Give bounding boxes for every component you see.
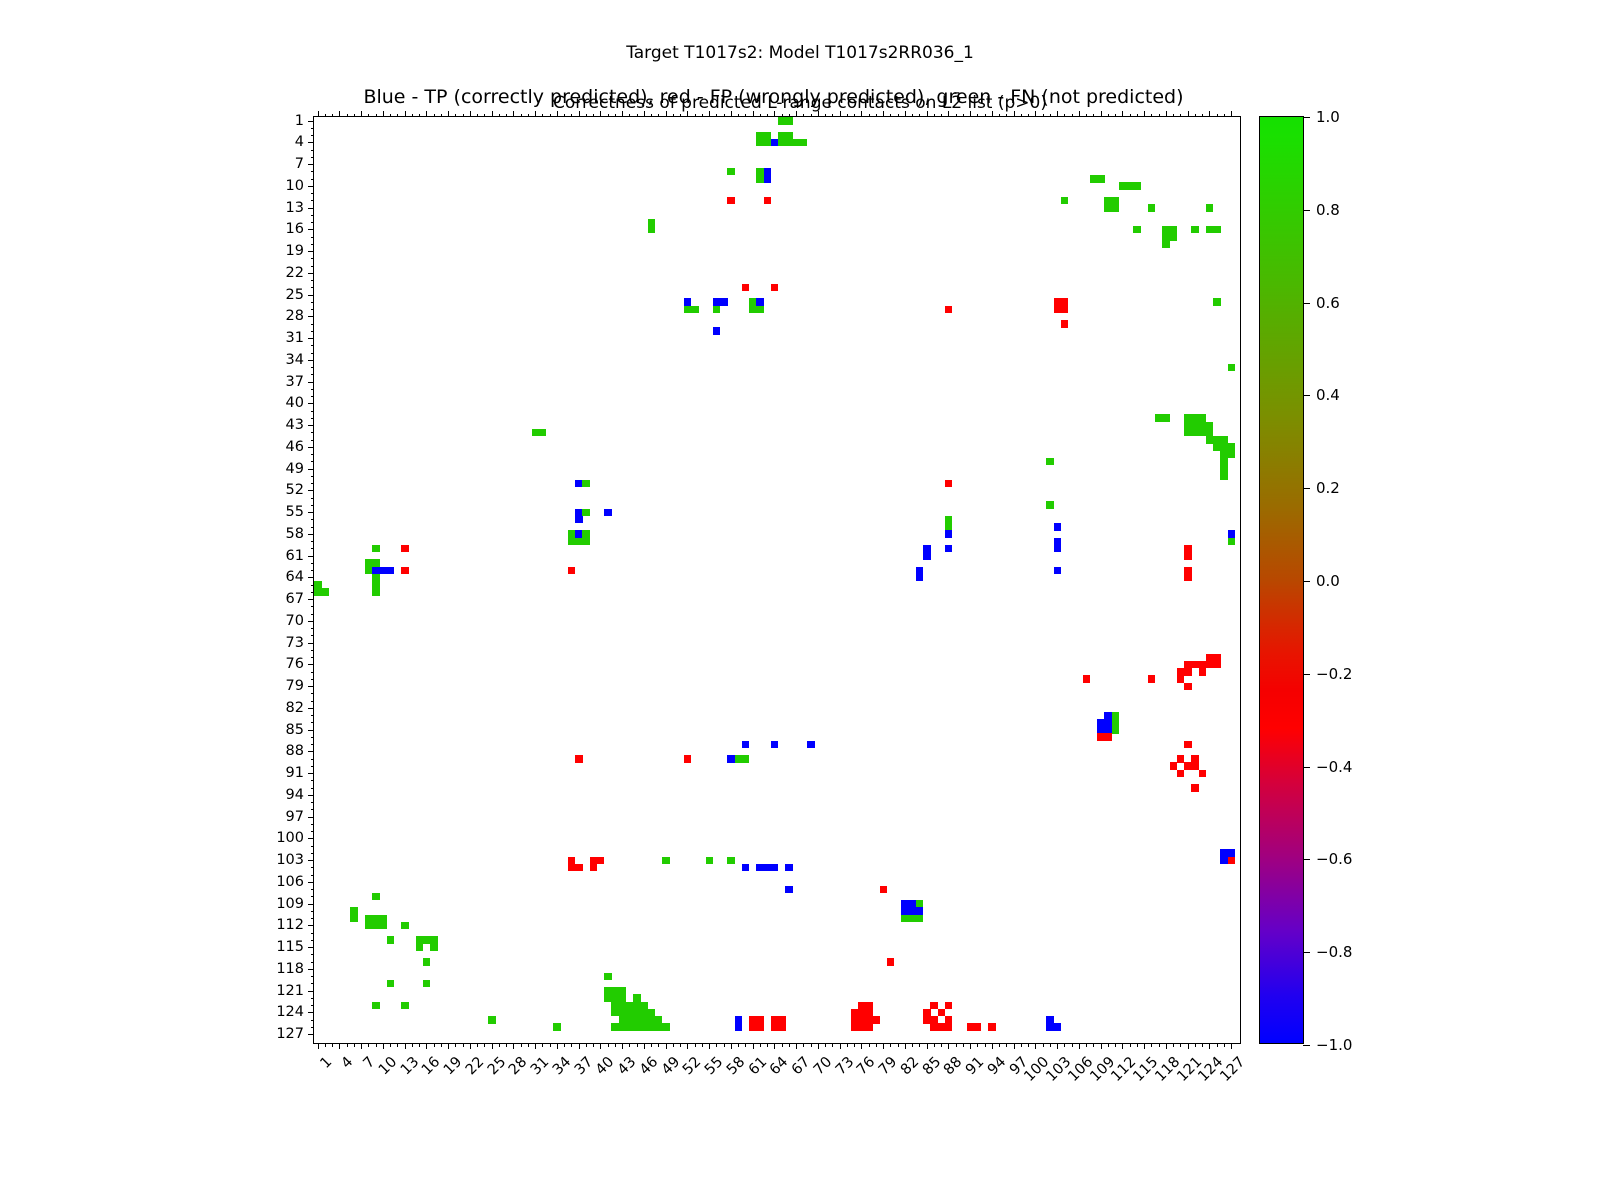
contact-cell [742,864,750,872]
x-tick-top-minor [811,114,812,118]
x-tick-top [318,111,319,117]
x-tick-major [883,1043,884,1049]
x-tick-minor [1064,1043,1065,1047]
x-tick-minor [803,1043,804,1047]
y-tick-minor [311,802,315,803]
colorbar[interactable]: 1.00.80.60.40.20.0−0.2−0.4−0.6−0.8−1.0 [1259,116,1304,1044]
x-tick-minor [397,1043,398,1047]
y-tick-minor [311,128,315,129]
x-tick-top-minor [484,114,485,118]
y-tick-minor [311,345,315,346]
contact-cell [945,1002,953,1010]
x-tick-top-minor [608,114,609,118]
contact-cell [1199,770,1207,778]
x-tick-minor [673,1043,674,1047]
y-tick-major [308,773,314,774]
x-tick-top-minor [919,114,920,118]
x-tick-minor [702,1043,703,1047]
suptitle-line-1: Target T1017s2: Model T1017s2RR036_1 [626,43,974,63]
x-tick-major [1101,1043,1102,1049]
contact-cell [785,117,793,125]
colorbar-tick-label: 0.4 [1316,386,1340,404]
x-tick-major [600,1043,601,1049]
x-tick-minor [934,1043,935,1047]
contact-cell [1177,770,1185,778]
y-tick-major [308,447,314,448]
y-tick-minor [311,1027,315,1028]
colorbar-tick [1303,581,1310,582]
y-tick-minor [311,193,315,194]
y-tick-label: 85 [286,722,304,738]
x-tick-top-minor [521,114,522,118]
y-tick-label: 91 [286,765,304,781]
x-tick-minor [1195,1043,1196,1047]
y-tick-minor [311,541,315,542]
x-tick-minor [325,1043,326,1047]
contact-cell [1184,574,1192,582]
y-tick-minor [311,780,315,781]
colorbar-tick-label: 0.6 [1316,294,1340,312]
x-tick-top-minor [1130,114,1131,118]
contact-cell [430,944,438,952]
x-tick-top-minor [999,114,1000,118]
x-tick-minor [434,1043,435,1047]
contact-cell [553,1023,561,1031]
y-tick-major [308,904,314,905]
x-tick-top-minor [1028,114,1029,118]
y-tick-minor [311,157,315,158]
x-tick-minor [912,1043,913,1047]
contact-cell [1220,472,1228,480]
contact-cell [423,958,431,966]
x-tick-label: 22 [463,1054,487,1078]
contact-cell [764,175,772,183]
x-tick-minor [455,1043,456,1047]
x-tick-top-minor [782,114,783,118]
x-tick-label: 127 [1218,1054,1249,1085]
y-tick-major [308,425,314,426]
y-tick-minor [311,954,315,955]
y-tick-label: 67 [286,591,304,607]
x-tick-major [1144,1043,1145,1049]
y-tick-minor [311,171,315,172]
x-tick-top-minor [1115,114,1116,118]
y-tick-minor [311,983,315,984]
x-tick-label: 70 [811,1054,835,1078]
x-tick-minor [564,1043,565,1047]
y-tick-major [308,621,314,622]
contact-cell [1191,226,1199,234]
y-tick-label: 127 [276,1026,304,1042]
y-tick-major [308,991,314,992]
x-tick-minor [550,1043,551,1047]
y-tick-major [308,338,314,339]
x-tick-label: 79 [876,1054,900,1078]
y-tick-minor [311,411,315,412]
contact-cell [880,886,888,894]
x-tick-minor [1050,1043,1051,1047]
y-tick-label: 94 [286,787,304,803]
y-tick-minor [311,831,315,832]
y-tick-minor [311,440,315,441]
contact-cell [945,480,953,488]
x-tick-major [622,1043,623,1049]
contact-cell [916,574,924,582]
y-tick-minor [311,476,315,477]
y-tick-major [308,1034,314,1035]
x-tick-minor [1202,1043,1203,1047]
y-tick-major [308,817,314,818]
contact-cell [1061,320,1069,328]
contact-cell [1184,668,1192,676]
x-tick-top-minor [1151,114,1152,118]
x-tick-top [448,111,449,117]
contact-cell [1083,675,1091,683]
contact-cell [1061,197,1069,205]
x-tick-top-minor [1173,114,1174,118]
x-tick-top [513,111,514,117]
x-tick-minor [1021,1043,1022,1047]
y-tick-minor [311,737,315,738]
y-tick-minor [311,940,315,941]
x-tick-minor [1151,1043,1152,1047]
y-tick-label: 118 [276,961,304,977]
x-tick-minor [789,1043,790,1047]
x-tick-top-minor [1093,114,1094,118]
contact-cell [1162,414,1170,422]
x-tick-major [1231,1043,1232,1049]
x-tick-top-minor [724,114,725,118]
y-tick-major [308,708,314,709]
y-tick-major [308,403,314,404]
contact-cell [727,857,735,865]
y-tick-major [308,534,314,535]
x-tick-top [840,111,841,117]
contact-cell [662,857,670,865]
contact-cell [401,1002,409,1010]
x-tick-major [339,1043,340,1049]
y-tick-minor [311,614,315,615]
y-tick-major [308,360,314,361]
x-tick-top-minor [455,114,456,118]
contact-cell [800,139,808,147]
y-tick-label: 10 [286,178,304,194]
y-tick-minor [311,628,315,629]
contact-cell [1061,306,1069,314]
x-tick-label: 43 [615,1054,639,1078]
x-tick-top-minor [571,114,572,118]
y-tick-minor [311,809,315,810]
contact-cell [575,864,583,872]
x-tick-major [426,1043,427,1049]
y-tick-minor [311,918,315,919]
y-tick-minor [311,976,315,977]
x-tick-top-minor [1159,114,1160,118]
colorbar-tick-label: 0.0 [1316,572,1340,590]
y-tick-minor [311,744,315,745]
y-tick-label: 13 [286,200,304,216]
y-tick-label: 73 [286,635,304,651]
colorbar-tick [1303,1045,1310,1046]
contact-cell [1199,668,1207,676]
colorbar-tick [1303,303,1310,304]
contact-cell [974,1023,982,1031]
x-tick-top-minor [397,114,398,118]
contact-cell [1213,226,1221,234]
y-tick-label: 76 [286,656,304,672]
x-tick-top-minor [977,114,978,118]
x-tick-minor [586,1043,587,1047]
contact-cell [706,857,714,865]
x-tick-top-minor [1224,114,1225,118]
x-tick-minor [637,1043,638,1047]
x-tick-top [1166,111,1167,117]
contact-cell [401,922,409,930]
y-tick-minor [311,672,315,673]
y-tick-minor [311,527,315,528]
y-tick-minor [311,846,315,847]
x-tick-minor [521,1043,522,1047]
y-tick-label: 28 [286,308,304,324]
contact-cell [945,530,953,538]
contact-cell [742,755,750,763]
x-tick-top-minor [658,114,659,118]
contact-cell [568,567,576,575]
y-tick-label: 70 [286,613,304,629]
y-tick-major [308,164,314,165]
contact-cell [756,306,764,314]
x-tick-major [992,1043,993,1049]
x-tick-major [666,1043,667,1049]
x-tick-top [687,111,688,117]
contact-cell [1206,204,1214,212]
x-tick-top-minor [651,114,652,118]
x-tick-top [535,111,536,117]
y-tick-minor [311,266,315,267]
x-tick-major [927,1043,928,1049]
x-tick-top-minor [542,114,543,118]
contact-cell [691,306,699,314]
x-tick-minor [680,1043,681,1047]
contact-cell [887,958,895,966]
y-tick-minor [311,853,315,854]
contact-cell [771,741,779,749]
x-tick-top [1057,111,1058,117]
x-tick-major [1209,1043,1210,1049]
x-tick-top-minor [1043,114,1044,118]
y-tick-minor [311,519,315,520]
x-tick-top-minor [1180,114,1181,118]
y-tick-label: 4 [295,134,304,150]
x-tick-minor [832,1043,833,1047]
x-tick-top [622,111,623,117]
x-tick-label: 55 [702,1054,726,1078]
x-tick-top [1014,111,1015,117]
contact-map-plot[interactable]: 1471013161922252831343740434649525558616… [313,116,1241,1044]
contact-cell [764,197,772,205]
y-tick-label: 64 [286,569,304,585]
x-tick-top-minor [695,114,696,118]
x-tick-minor [1224,1043,1225,1047]
x-tick-major [948,1043,949,1049]
y-tick-label: 82 [286,700,304,716]
x-tick-minor [1173,1043,1174,1047]
x-tick-top-minor [760,114,761,118]
x-tick-major [448,1043,449,1049]
contact-cell [785,864,793,872]
x-tick-minor [782,1043,783,1047]
contact-cell [575,755,583,763]
y-tick-minor [311,962,315,963]
x-tick-top [905,111,906,117]
x-tick-major [818,1043,819,1049]
x-tick-top-minor [1202,114,1203,118]
x-tick-minor [985,1043,986,1047]
x-tick-minor [608,1043,609,1047]
contact-cell [1184,741,1192,749]
y-tick-major [308,251,314,252]
contact-cell [1054,1023,1062,1031]
y-tick-label: 19 [286,243,304,259]
x-tick-major [513,1043,514,1049]
y-tick-minor [311,998,315,999]
contact-cell [865,1023,873,1031]
x-tick-minor [854,1043,855,1047]
colorbar-tick-label: 0.2 [1316,479,1340,497]
x-tick-top-minor [325,114,326,118]
contact-cell [778,1023,786,1031]
x-tick-top-minor [832,114,833,118]
x-tick-top [1188,111,1189,117]
x-tick-top-minor [376,114,377,118]
x-tick-major [731,1043,732,1049]
y-tick-minor [311,911,315,912]
y-tick-label: 109 [276,896,304,912]
y-tick-major [308,556,314,557]
x-tick-top-minor [1064,114,1065,118]
x-tick-top-minor [825,114,826,118]
y-tick-minor [311,353,315,354]
x-tick-top-minor [934,114,935,118]
y-tick-major [308,316,314,317]
x-tick-minor [484,1043,485,1047]
y-tick-major [308,490,314,491]
contact-cell [872,1016,880,1024]
colorbar-tick [1303,117,1310,118]
x-tick-major [687,1043,688,1049]
contact-map-cells [314,117,1240,1043]
contact-cell [1046,501,1054,509]
contact-cell [1046,458,1054,466]
contact-cell [1191,784,1199,792]
x-tick-top [861,111,862,117]
x-tick-top-minor [1217,114,1218,118]
colorbar-tick-label: −0.8 [1316,943,1352,961]
y-tick-label: 16 [286,221,304,237]
x-tick-minor [745,1043,746,1047]
x-tick-minor [1217,1043,1218,1047]
colorbar-tick [1303,859,1310,860]
y-tick-label: 115 [276,939,304,955]
y-tick-minor [311,635,315,636]
y-tick-minor [311,867,315,868]
y-tick-major [308,664,314,665]
x-tick-top-minor [963,114,964,118]
y-tick-major [308,643,314,644]
y-tick-major [308,142,314,143]
x-tick-top [883,111,884,117]
contact-cell [387,936,395,944]
x-tick-major [579,1043,580,1049]
x-tick-top [948,111,949,117]
x-tick-top-minor [506,114,507,118]
x-tick-minor [1137,1043,1138,1047]
x-tick-top-minor [738,114,739,118]
x-tick-minor [695,1043,696,1047]
x-tick-label: 82 [898,1054,922,1078]
x-tick-top [927,111,928,117]
x-tick-label: 4 [339,1054,357,1072]
contact-cell [372,588,380,596]
x-tick-major [774,1043,775,1049]
contact-cell [1133,182,1141,190]
x-tick-top [1035,111,1036,117]
x-tick-minor [963,1043,964,1047]
contact-cell [582,509,590,517]
y-tick-minor [311,461,315,462]
y-tick-minor [311,324,315,325]
x-tick-top-minor [767,114,768,118]
contact-cell [771,284,779,292]
x-tick-minor [890,1043,891,1047]
contact-cell [1148,675,1156,683]
x-tick-minor [593,1043,594,1047]
x-tick-label: 7 [361,1054,379,1072]
x-tick-top [339,111,340,117]
x-tick-minor [724,1043,725,1047]
contact-cell [488,1016,496,1024]
x-tick-top-minor [912,114,913,118]
x-tick-top-minor [956,114,957,118]
x-tick-top-minor [463,114,464,118]
x-tick-minor [347,1043,348,1047]
x-tick-top-minor [869,114,870,118]
y-tick-label: 88 [286,743,304,759]
x-tick-top-minor [745,114,746,118]
x-tick-minor [898,1043,899,1047]
y-tick-minor [311,889,315,890]
y-tick-minor [311,759,315,760]
x-tick-minor [760,1043,761,1047]
x-tick-top-minor [332,114,333,118]
x-tick-top-minor [347,114,348,118]
x-tick-minor [956,1043,957,1047]
y-tick-minor [311,563,315,564]
y-tick-minor [311,693,315,694]
x-tick-top [492,111,493,117]
contact-cell [727,197,735,205]
x-tick-minor [1006,1043,1007,1047]
x-tick-major [753,1043,754,1049]
x-tick-minor [368,1043,369,1047]
y-tick-minor [311,374,315,375]
x-tick-top-minor [499,114,500,118]
y-tick-minor [311,454,315,455]
x-tick-top [818,111,819,117]
x-tick-minor [506,1043,507,1047]
x-tick-top [709,111,710,117]
y-tick-major [308,730,314,731]
